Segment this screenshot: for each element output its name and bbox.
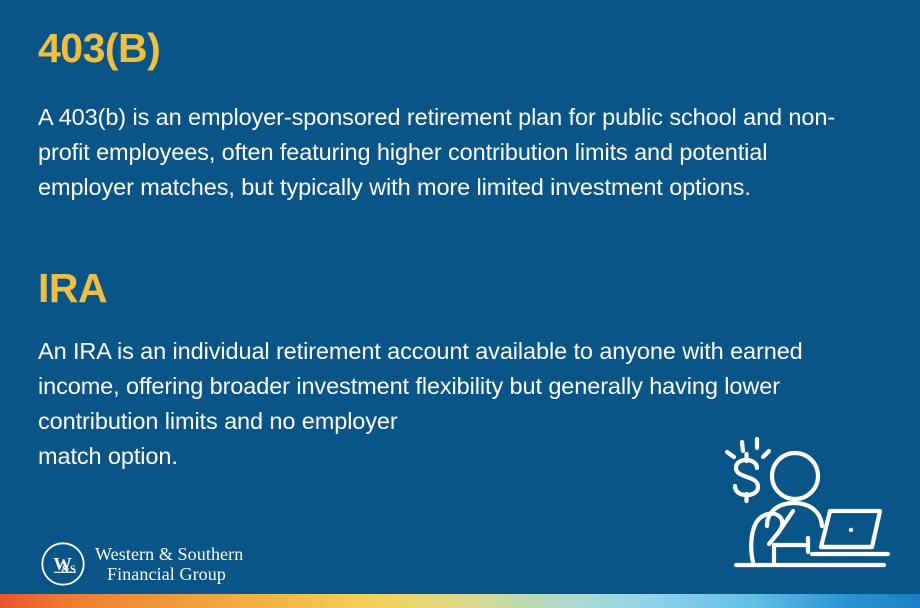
person-at-laptop-illustration: [712, 434, 892, 574]
brand-gradient-bar: [0, 594, 920, 608]
section-body-403b: A 403(b) is an employer-sponsored retire…: [38, 100, 868, 205]
section-heading-ira: IRA: [38, 268, 107, 309]
section-heading-403b: 403(B): [38, 28, 160, 69]
svg-text:&S: &S: [61, 564, 76, 575]
western-southern-circle-icon: W &S: [40, 541, 86, 587]
brand-name-line1: Western & Southern: [95, 544, 243, 564]
infographic-card: 403(B) A 403(b) is an employer-sponsored…: [0, 0, 920, 608]
brand-name-line2: Financial Group: [95, 564, 243, 584]
brand-wordmark: Western & Southern Financial Group: [95, 524, 243, 604]
brand-logo: W &S Western & Southern Financial Group: [40, 524, 243, 604]
